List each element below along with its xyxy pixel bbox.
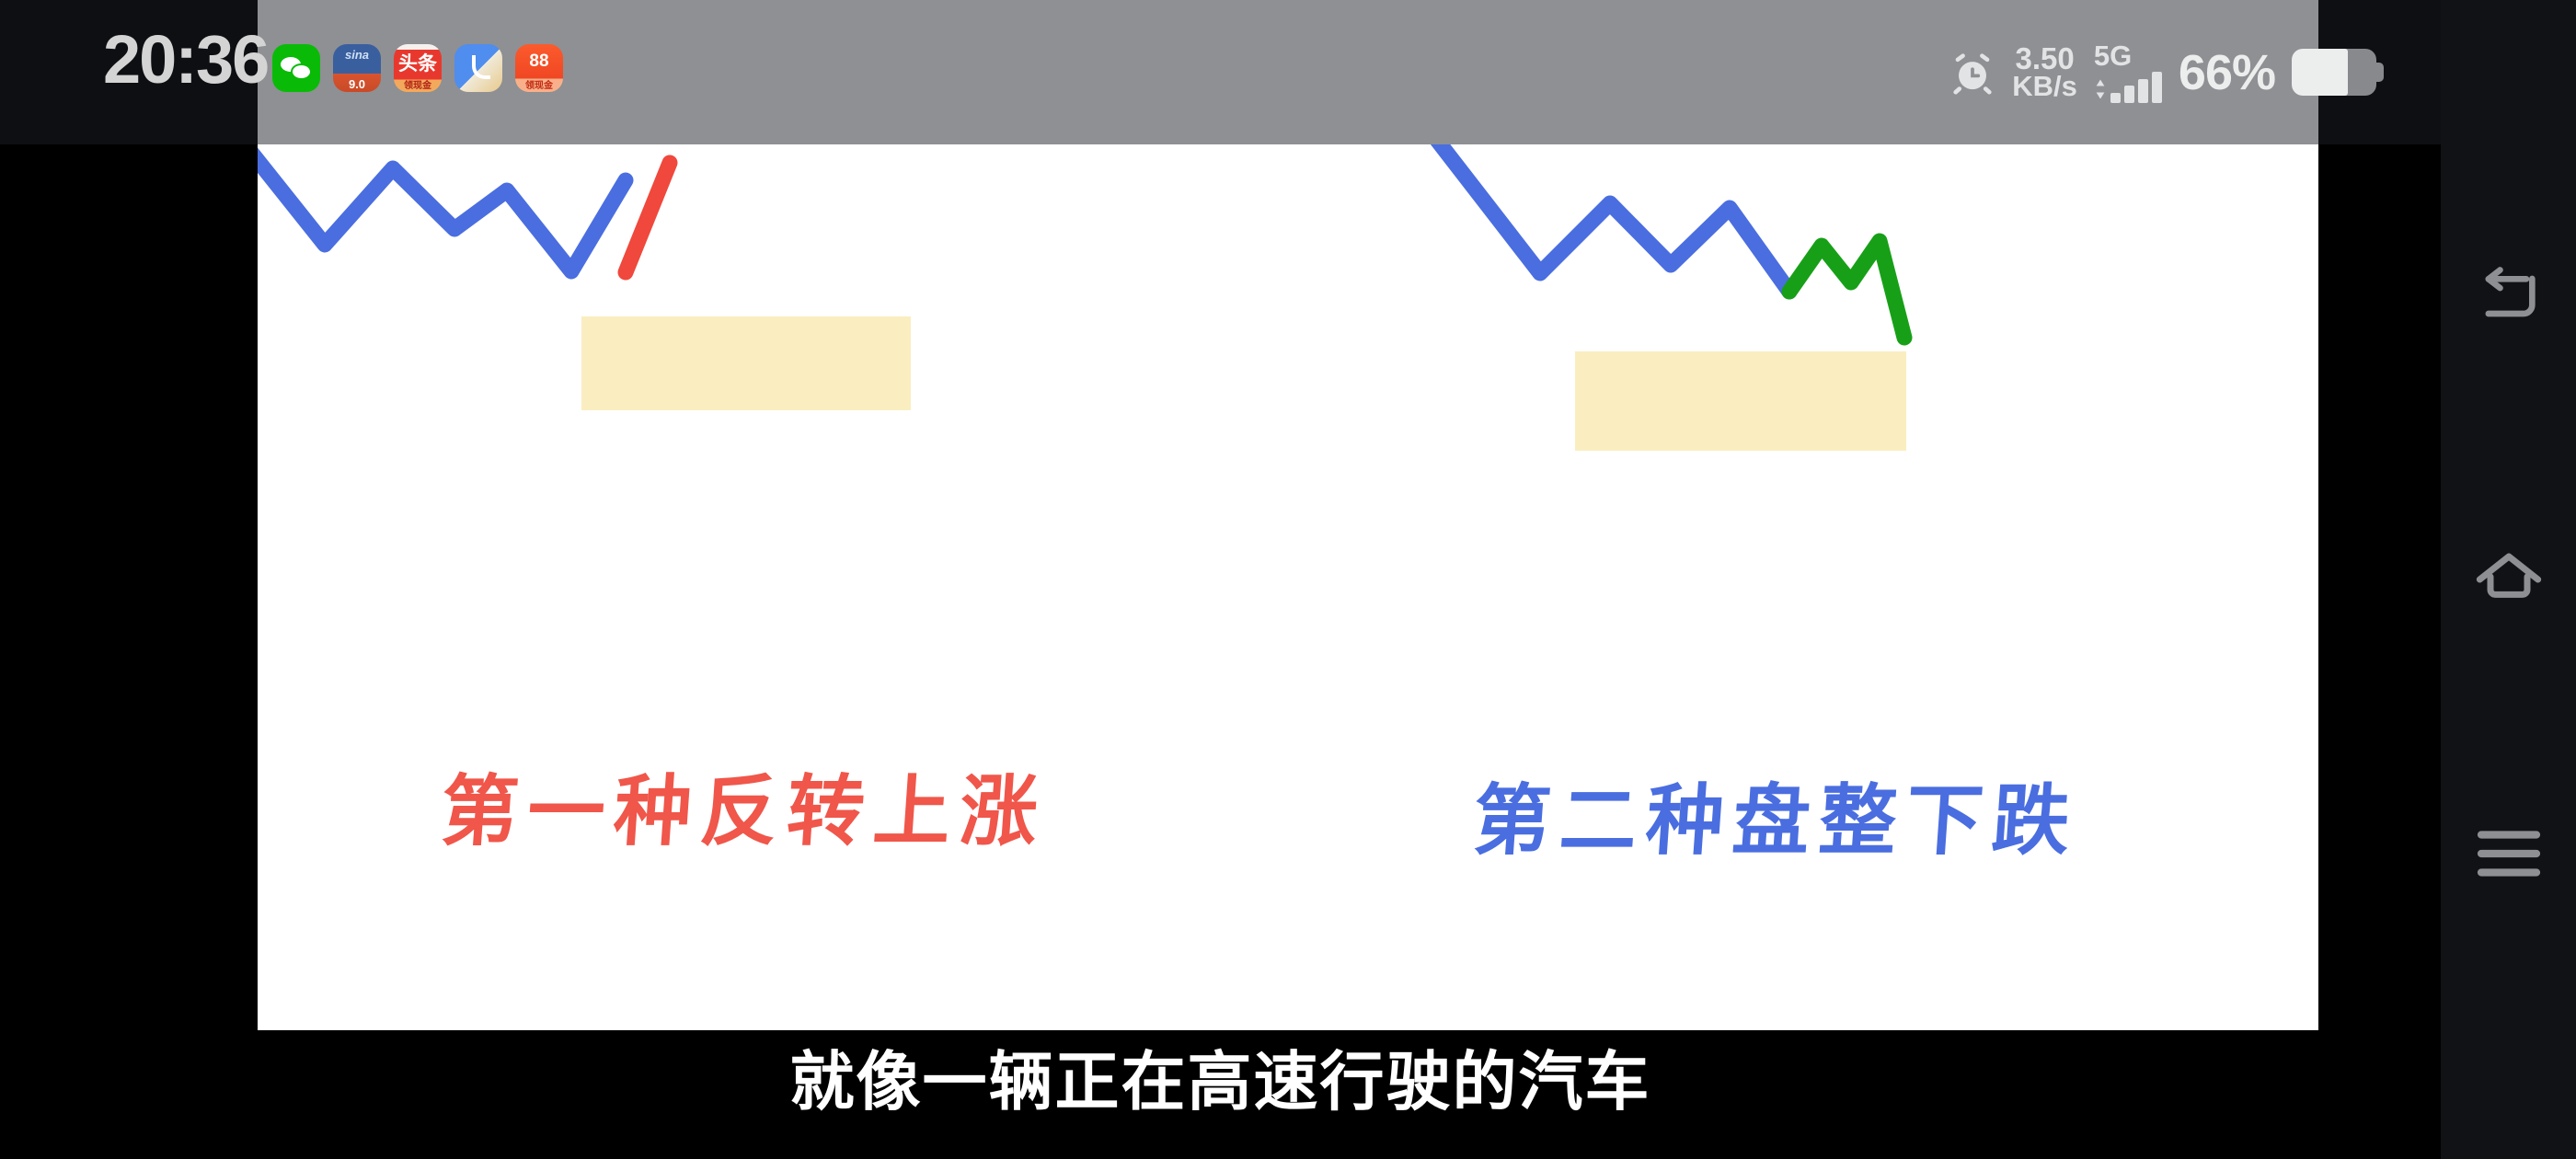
- system-navigation-bar[interactable]: [2441, 0, 2576, 1159]
- sina-version-label: 9.0: [333, 77, 381, 91]
- status-bar-right-cluster: 3.50 KB/s 5G 66%: [1949, 0, 2376, 144]
- stock-pattern-illustration: [258, 144, 2318, 1030]
- toutiao-icon[interactable]: 头条 领现金: [394, 44, 442, 92]
- video-player-area[interactable]: 第一种反转上涨 第二种盘整下跌 就像一辆正在高速行驶的汽车 20:36 sina…: [0, 0, 2441, 1159]
- signal-bars-icon: [2094, 72, 2162, 103]
- battery-icon: [2292, 49, 2376, 96]
- video-frame[interactable]: 第一种反转上涨 第二种盘整下跌: [258, 144, 2318, 1030]
- signal-bar-3: [2138, 79, 2148, 103]
- signal-bar-4: [2152, 72, 2162, 103]
- network-type-label: 5G: [2094, 41, 2132, 70]
- battery-percent-label: 66%: [2179, 44, 2275, 101]
- sina-label: sina: [333, 48, 381, 62]
- chart1-caption: 第一种反转上涨: [438, 750, 1051, 861]
- chart-reversal-up: [258, 144, 911, 410]
- data-updown-icon: [2094, 75, 2107, 103]
- chart2-highlight-box: [1575, 351, 1906, 451]
- battery-fill: [2292, 49, 2348, 96]
- chart2-caption: 第二种盘整下跌: [1470, 759, 2083, 870]
- alarm-icon: [1949, 50, 1995, 96]
- status-clock: 20:36: [103, 26, 268, 94]
- sina-finance-icon[interactable]: sina 9.0: [333, 44, 381, 92]
- chart2-trend-line: [1420, 144, 1789, 292]
- signal-bar-1: [2110, 93, 2121, 103]
- kuaishou-label: 88: [515, 52, 563, 70]
- wechat-icon[interactable]: [272, 44, 320, 92]
- home-icon: [2472, 538, 2546, 612]
- blue-app-icon[interactable]: [454, 44, 502, 92]
- chart1-trend-line: [258, 144, 626, 271]
- toutiao-badge: 领现金: [394, 77, 442, 91]
- chart1-highlight-box: [581, 316, 911, 410]
- toutiao-label: 头条: [394, 54, 442, 74]
- network-speed-value: 3.50: [2015, 44, 2074, 74]
- kuaishou-icon[interactable]: 88 领现金: [515, 44, 563, 92]
- kuaishou-badge: 领现金: [515, 77, 563, 91]
- battery-nub: [2375, 63, 2384, 82]
- menu-icon: [2474, 826, 2544, 881]
- back-arrow-icon: [2474, 261, 2544, 331]
- notification-icons[interactable]: sina 9.0 头条 领现金 88 领现金: [272, 44, 563, 92]
- signal-bar-2: [2124, 86, 2134, 103]
- chart-consolidation-down: [1420, 144, 1906, 451]
- video-subtitle: 就像一辆正在高速行驶的汽车: [0, 1030, 2441, 1123]
- nav-home-button[interactable]: [2458, 524, 2559, 625]
- nav-back-button[interactable]: [2458, 246, 2559, 347]
- chart2-signal-line: [1789, 241, 1904, 338]
- network-speed: 3.50 KB/s: [2012, 44, 2077, 100]
- nav-menu-button[interactable]: [2458, 803, 2559, 904]
- network-speed-unit: KB/s: [2012, 73, 2077, 100]
- network-indicator: 5G: [2094, 41, 2162, 103]
- phone-screen: 第一种反转上涨 第二种盘整下跌 就像一辆正在高速行驶的汽车 20:36 sina…: [0, 0, 2576, 1159]
